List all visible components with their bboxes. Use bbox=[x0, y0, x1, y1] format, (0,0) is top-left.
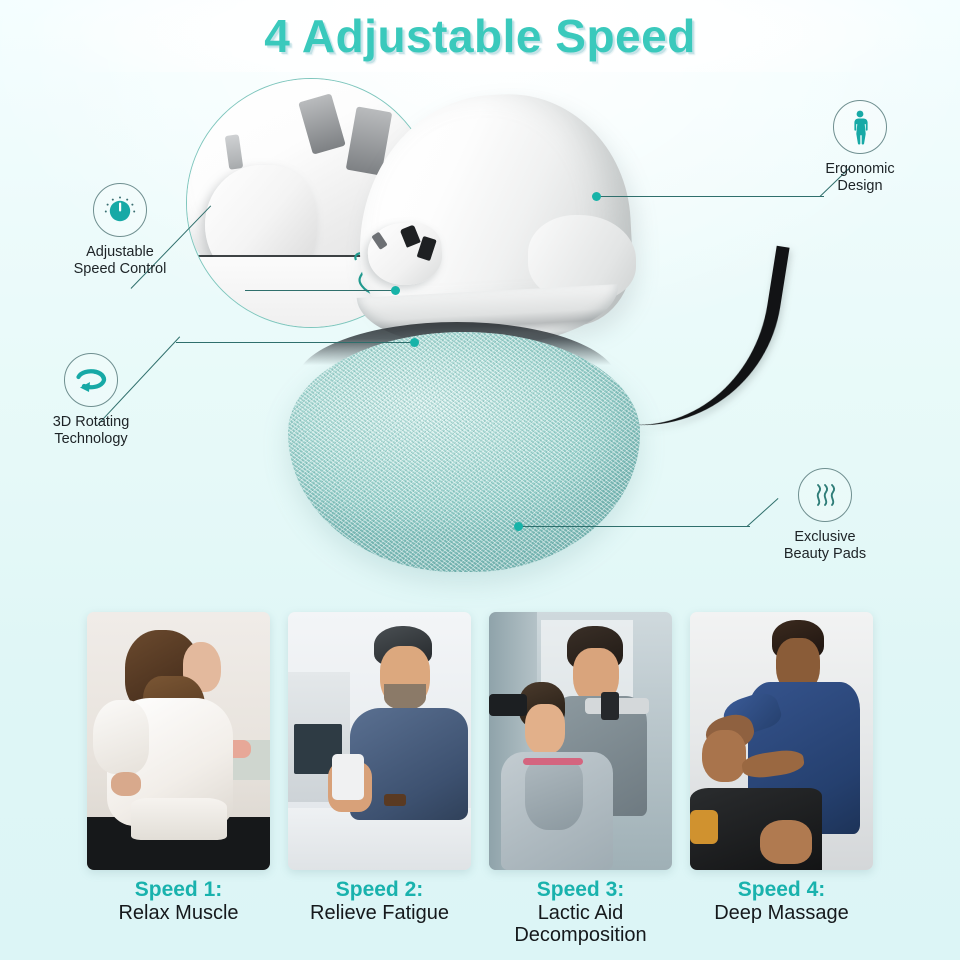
speed-caption: Speed 3: Lactic Aid Decomposition bbox=[489, 878, 672, 946]
speed-photo-card[interactable] bbox=[690, 612, 873, 870]
callout-label-adjustable-speed-control: Adjustable Speed Control bbox=[74, 244, 167, 278]
speed-label: Speed 2: bbox=[288, 878, 471, 902]
speed-photo-card[interactable] bbox=[489, 612, 672, 870]
callout-adjustable-speed-control: Adjustable Speed Control bbox=[52, 183, 188, 278]
page-title: 4 Adjustable Speed bbox=[264, 9, 696, 63]
callout-label-3d-rotating-technology: 3D Rotating Technology bbox=[53, 414, 130, 448]
speed-photo-row bbox=[0, 612, 960, 902]
product-infographic: 4 Adjustable Speed bbox=[0, 0, 960, 960]
connector-line-speed-control bbox=[245, 290, 395, 291]
connector-dot-rotating bbox=[410, 338, 419, 347]
dial-segment bbox=[400, 224, 421, 247]
connector-dot-beauty-pads bbox=[514, 522, 523, 531]
speed-label: Speed 3: bbox=[489, 878, 672, 902]
speed-caption: Speed 4: Deep Massage bbox=[690, 878, 873, 946]
dial-segment bbox=[371, 232, 387, 250]
callout-3d-rotating-technology: 3D Rotating Technology bbox=[26, 353, 156, 448]
speed-description: Relax Muscle bbox=[87, 902, 270, 924]
human-body-icon bbox=[833, 100, 887, 154]
speed-photo-card[interactable] bbox=[87, 612, 270, 870]
speed-description: Lactic Aid Decomposition bbox=[489, 902, 672, 947]
speed-caption-row: Speed 1: Relax Muscle Speed 2: Relieve F… bbox=[0, 878, 960, 946]
speed-label: Speed 1: bbox=[87, 878, 270, 902]
connector-line-ergonomic bbox=[596, 196, 824, 197]
connector-line-beauty-pads bbox=[520, 526, 750, 527]
speed-caption: Speed 1: Relax Muscle bbox=[87, 878, 270, 946]
callout-ergonomic-design: Ergonomic Design bbox=[796, 100, 924, 195]
speed-label: Speed 4: bbox=[690, 878, 873, 902]
connector-dot-speed-control bbox=[391, 286, 400, 295]
callout-label-exclusive-beauty-pads: Exclusive Beauty Pads bbox=[784, 529, 866, 563]
photo-woman-with-back-pain bbox=[87, 612, 270, 870]
speed-caption: Speed 2: Relieve Fatigue bbox=[288, 878, 471, 946]
speed-description: Relieve Fatigue bbox=[288, 902, 471, 924]
callout-label-ergonomic-design: Ergonomic Design bbox=[825, 161, 894, 195]
speed-dial-icon bbox=[93, 183, 147, 237]
callout-exclusive-beauty-pads: Exclusive Beauty Pads bbox=[750, 468, 900, 563]
microfiber-massage-pad bbox=[288, 332, 640, 572]
photo-fitness-couple-with-dumbbells bbox=[489, 612, 672, 870]
connector-line-rotating bbox=[176, 342, 416, 343]
pad-texture bbox=[288, 332, 640, 572]
photo-man-at-desk-with-phone bbox=[288, 612, 471, 870]
photo-therapist-treating-patient bbox=[690, 612, 873, 870]
title-banner: 4 Adjustable Speed bbox=[0, 0, 960, 72]
speed-description: Deep Massage bbox=[690, 902, 873, 924]
rotate-arrow-icon bbox=[64, 353, 118, 407]
wavy-lines-icon bbox=[798, 468, 852, 522]
connector-dot-ergonomic bbox=[592, 192, 601, 201]
speed-photo-card[interactable] bbox=[288, 612, 471, 870]
